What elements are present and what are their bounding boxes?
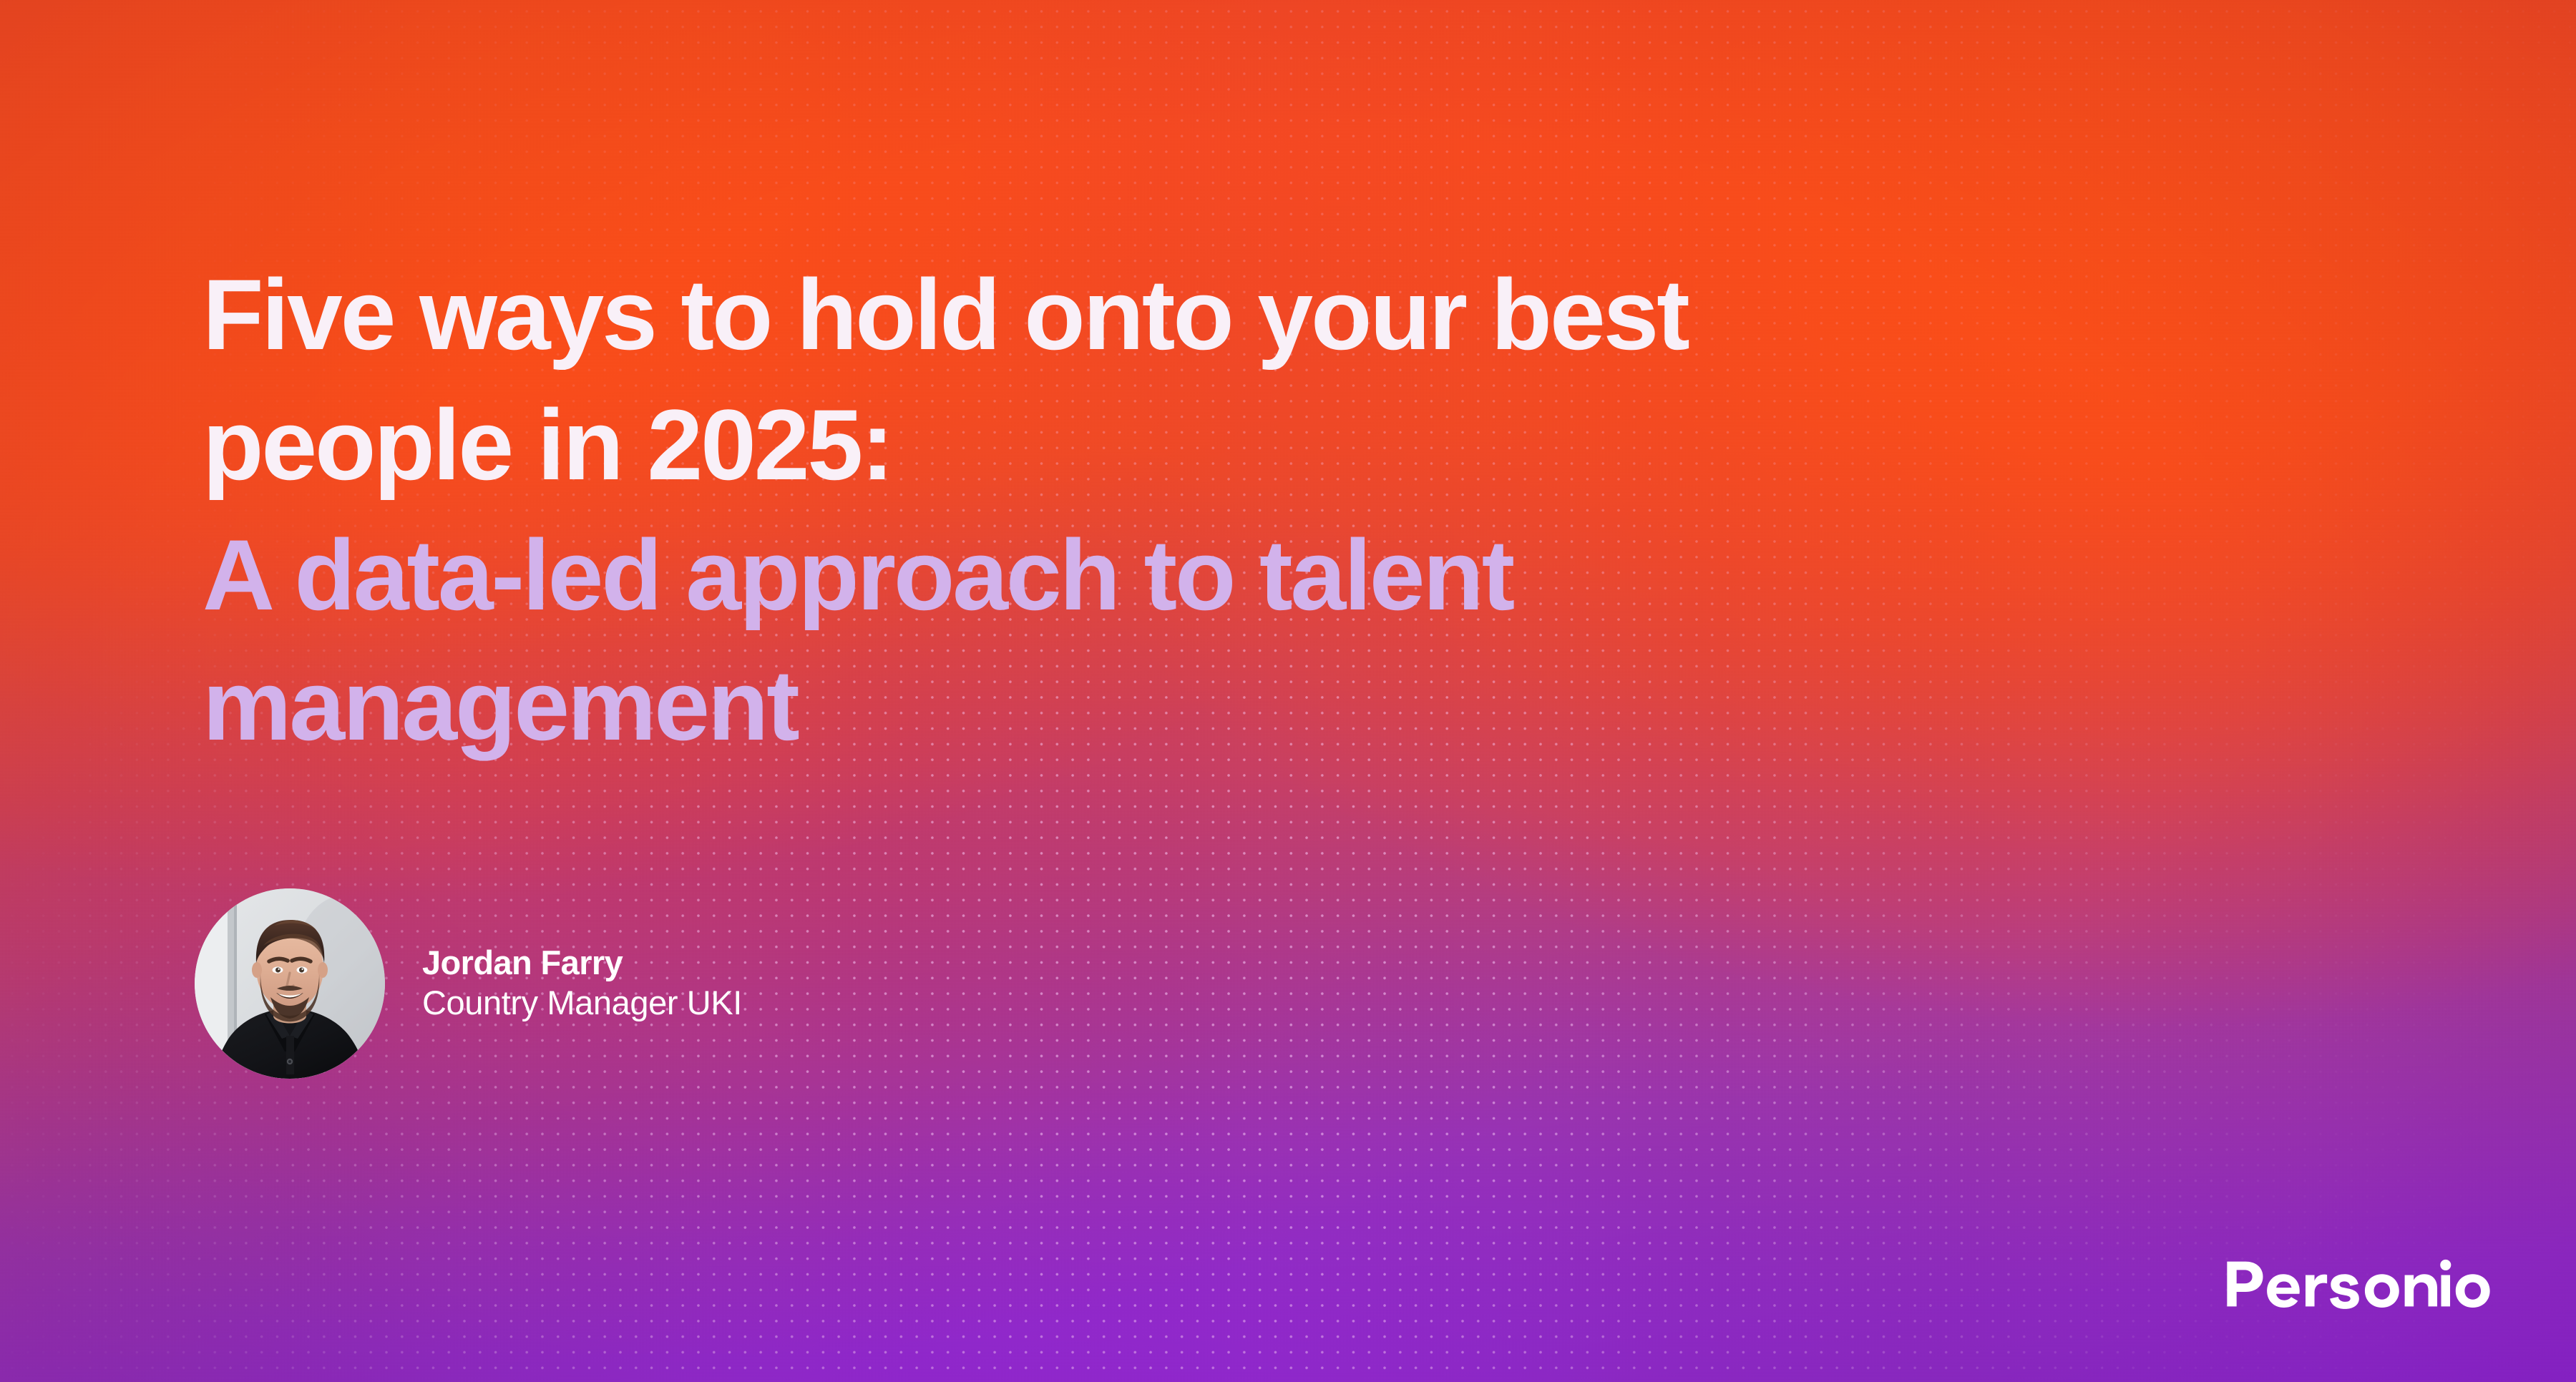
headline-line-2: people in 2025: (203, 380, 2278, 510)
presentation-slide: Five ways to hold onto your best people … (0, 0, 2576, 1382)
slide-headline: Five ways to hold onto your best people … (203, 250, 2278, 770)
avatar (195, 888, 385, 1079)
author-name: Jordan Farry (422, 943, 742, 982)
author-role: Country Manager UKI (422, 982, 742, 1024)
headline-line-4: management (203, 640, 2278, 770)
author-block: Jordan Farry Country Manager UKI (195, 888, 742, 1079)
personio-logo (2225, 1253, 2492, 1315)
headline-line-3: A data-led approach to talent (203, 510, 2278, 640)
author-text: Jordan Farry Country Manager UKI (422, 943, 742, 1025)
headline-line-1: Five ways to hold onto your best (203, 250, 2278, 380)
